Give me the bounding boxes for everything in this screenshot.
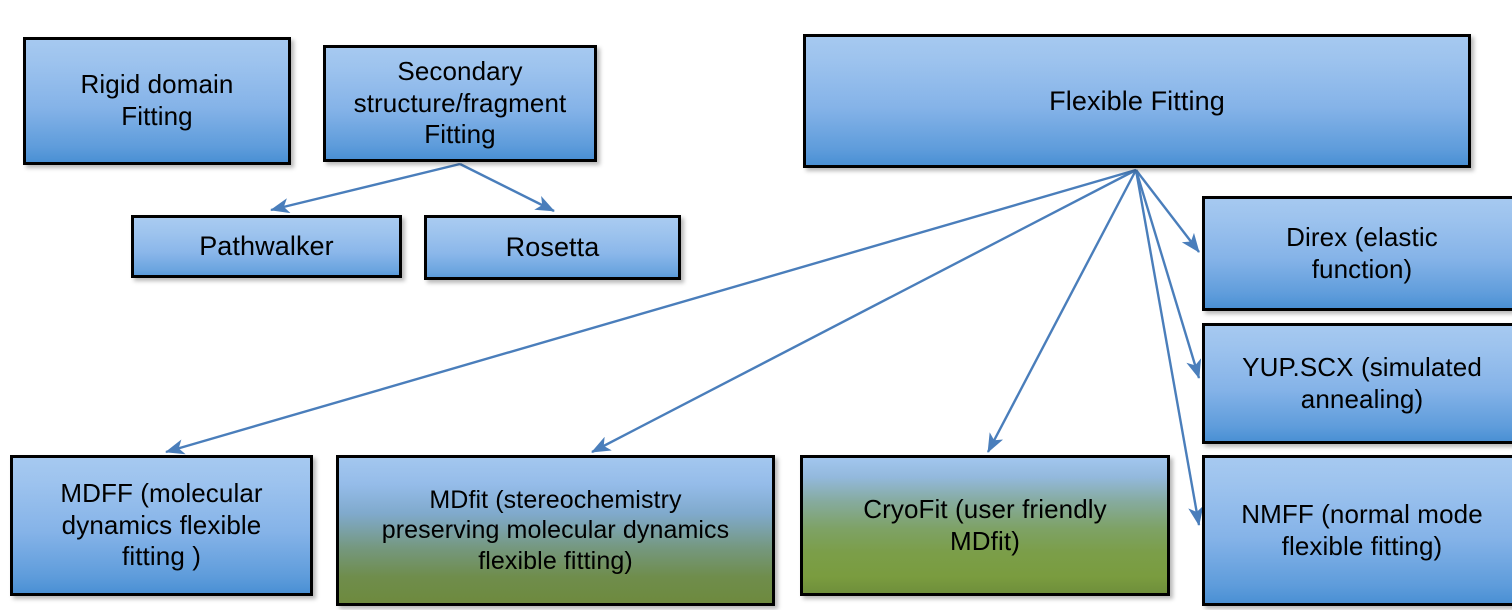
node-label-direx: Direx (elastic function): [1215, 222, 1509, 285]
connector-flexible-to-direx: [1136, 170, 1199, 252]
node-label-yup-scx: YUP.SCX (simulated annealing): [1215, 352, 1509, 415]
node-rosetta[interactable]: Rosetta: [424, 215, 681, 280]
connector-flexible-to-cryofit: [988, 170, 1136, 452]
node-label-pathwalker: Pathwalker: [144, 230, 389, 263]
node-secondary-structure-fragment-fitting[interactable]: Secondary structure/fragment Fitting: [323, 45, 597, 162]
connector-flexible-to-mdff: [166, 170, 1136, 452]
connector-secondary-to-pathwalker: [271, 164, 460, 210]
node-label-mdff: MDFF (molecular dynamics flexible fittin…: [23, 478, 300, 573]
node-cryofit[interactable]: CryoFit (user friendly MDfit): [800, 455, 1170, 596]
node-flexible-fitting[interactable]: Flexible Fitting: [803, 34, 1471, 168]
connector-flexible-to-mdfit: [592, 170, 1136, 452]
node-label-mdfit: MDfit (stereochemistry preserving molecu…: [349, 485, 762, 577]
node-direx[interactable]: Direx (elastic function): [1202, 196, 1512, 311]
node-pathwalker[interactable]: Pathwalker: [131, 215, 402, 278]
node-yup-scx[interactable]: YUP.SCX (simulated annealing): [1202, 323, 1512, 444]
connector-flexible-to-yupscx: [1136, 170, 1199, 378]
node-rigid-domain-fitting[interactable]: Rigid domain Fitting: [23, 37, 291, 165]
node-label-rigid-domain-fitting: Rigid domain Fitting: [36, 69, 278, 132]
diagram-canvas: Rigid domain FittingSecondary structure/…: [0, 0, 1512, 610]
node-label-cryofit: CryoFit (user friendly MDfit): [813, 494, 1157, 557]
node-label-flexible-fitting: Flexible Fitting: [816, 85, 1458, 118]
node-mdfit[interactable]: MDfit (stereochemistry preserving molecu…: [336, 455, 775, 606]
node-nmff[interactable]: NMFF (normal mode flexible fitting): [1202, 455, 1512, 606]
node-mdff[interactable]: MDFF (molecular dynamics flexible fittin…: [10, 455, 313, 596]
node-label-nmff: NMFF (normal mode flexible fitting): [1215, 499, 1509, 562]
node-label-secondary-structure-fragment-fitting: Secondary structure/fragment Fitting: [336, 56, 584, 151]
connector-secondary-to-rosetta: [460, 164, 554, 211]
node-label-rosetta: Rosetta: [437, 231, 668, 264]
